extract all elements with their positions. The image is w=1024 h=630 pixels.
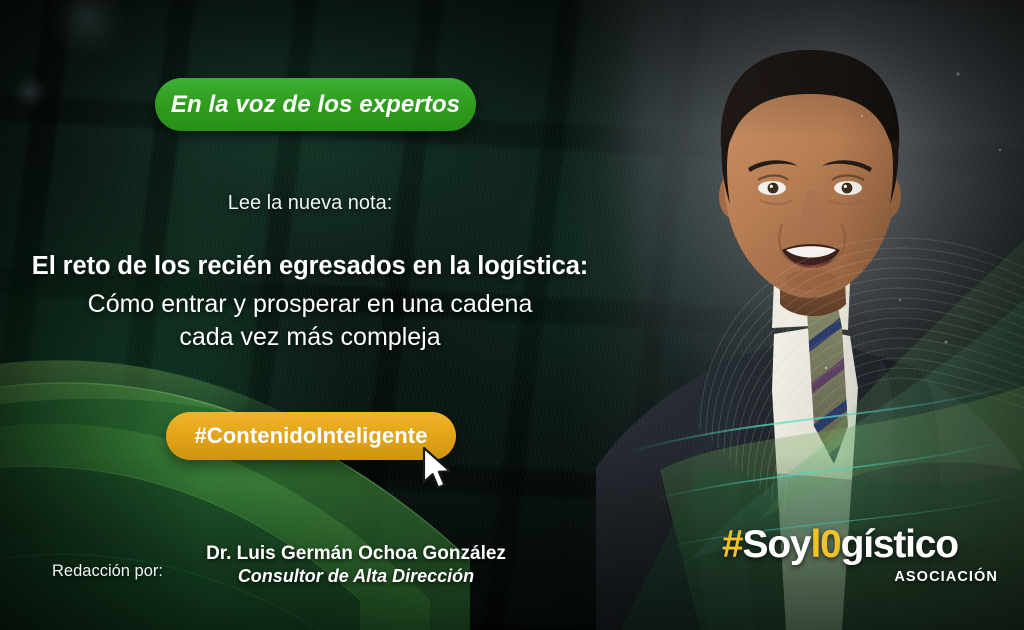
expert-voice-badge[interactable]: En la voz de los expertos (155, 78, 476, 131)
credit-label: Redacción por: (52, 562, 163, 581)
logo-gistico: gístico (841, 523, 958, 566)
soylogistico-logo[interactable]: #Soyl0gístico ASOCIACIÓN (722, 525, 1002, 597)
logo-soy: Soy (743, 523, 811, 566)
headline-line-1: El reto de los recién egresados en la lo… (0, 252, 620, 282)
hashtag-cta-button[interactable]: #ContenidoInteligente (166, 412, 456, 460)
author-name: Dr. Luis Germán Ochoa González (170, 543, 542, 565)
arrow-pointer-cursor (421, 446, 455, 492)
logo-wordmark: #Soyl0gístico (722, 525, 1002, 564)
logo-hash: # (722, 523, 743, 566)
logo-l-zero: l0 (810, 523, 840, 566)
headline-line-3: cada vez más compleja (0, 321, 620, 354)
logo-subtitle: ASOCIACIÓN (722, 569, 1002, 585)
kicker-text: Lee la nueva nota: (0, 192, 620, 215)
headline: El reto de los recién egresados en la lo… (0, 252, 620, 354)
headline-line-2: Cómo entrar y prosperar en una cadena (0, 288, 620, 321)
author-role: Consultor de Alta Dirección (170, 566, 542, 587)
content-layer: En la voz de los expertos Lee la nueva n… (0, 0, 1024, 630)
banner-canvas: En la voz de los expertos Lee la nueva n… (0, 0, 1024, 630)
